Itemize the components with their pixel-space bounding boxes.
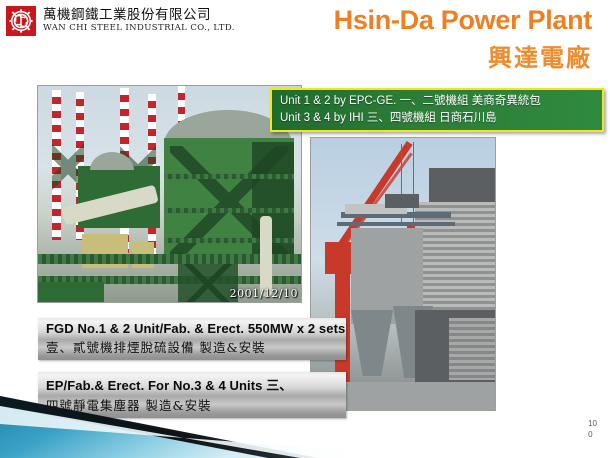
photo-power-plant-left: 2001/12/10 [37, 85, 302, 303]
ep-casing-louvre-right [415, 202, 496, 322]
scope-band-fgd-en: FGD No.1 & 2 Unit/Fab. & Erect. 550MW x … [46, 321, 340, 336]
ductwork-top [385, 194, 419, 208]
company-name-en: WAN CHI STEEL INDUSTRIAL CO., LTD. [43, 24, 235, 34]
callout-line-1: Unit 1 & 2 by EPC-GE. 一、二號機組 美商奇異統包 [280, 93, 594, 110]
scope-band-fgd-cn: 壹、貳號機排煙脫硫設備 製造&安裝 [46, 337, 340, 356]
page-number-line-1: 10 [588, 419, 597, 429]
slide-root: 萬機鋼鐵工業股份有限公司 WAN CHI STEEL INDUSTRIAL CO… [0, 0, 610, 458]
company-logo-block: 萬機鋼鐵工業股份有限公司 WAN CHI STEEL INDUSTRIAL CO… [6, 6, 235, 36]
foreground-pipe-right [260, 216, 272, 296]
ep-lower-louvre [449, 318, 496, 380]
page-number-line-2: 0 [588, 430, 597, 440]
units-contractor-callout: Unit 1 & 2 by EPC-GE. 一、二號機組 美商奇異統包 Unit… [270, 88, 604, 132]
erection-steel-frame-2 [337, 222, 455, 226]
scope-band-ep-en: EP/Fab.& Erect. For No.3 & 4 Units 三、 [46, 375, 340, 394]
ground-plinth-left [38, 282, 104, 303]
building-right-upper [429, 168, 496, 202]
photo-ep-erection-right [310, 137, 496, 411]
page-title-cn: 興達電廠 [488, 38, 592, 73]
company-name-cn: 萬機鋼鐵工業股份有限公司 [43, 8, 235, 24]
page-title-en: Hsin-Da Power Plant [334, 5, 592, 36]
callout-line-2: Unit 3 & 4 by IHI 三、四號機組 日商石川島 [280, 110, 594, 127]
boiler-deck-1 [164, 174, 294, 179]
photo-datestamp: 2001/12/10 [230, 287, 298, 300]
boiler-deck-2 [164, 208, 294, 213]
scope-band-fgd: FGD No.1 & 2 Unit/Fab. & Erect. 550MW x … [38, 318, 346, 360]
boiler-deck-3 [164, 238, 294, 243]
wanchi-gear-manji-logo-icon [6, 6, 36, 36]
page-number: 10 0 [588, 419, 597, 440]
